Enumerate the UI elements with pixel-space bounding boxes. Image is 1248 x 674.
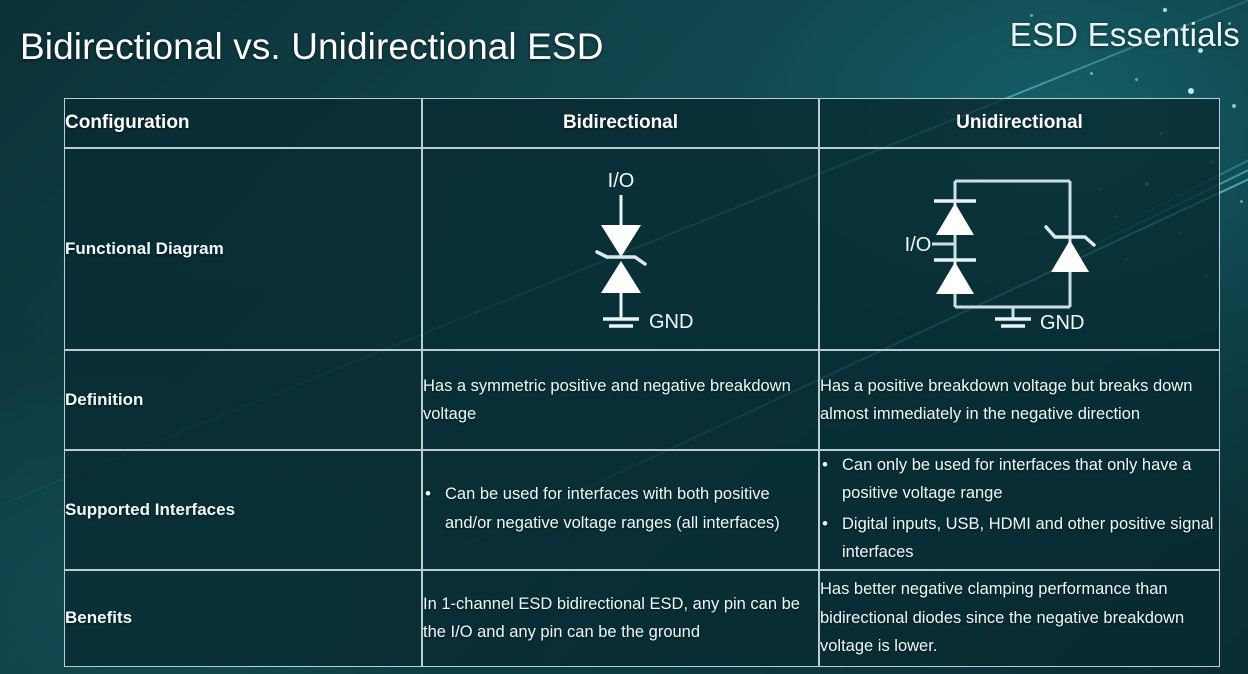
bidirectional-tvs-diode-symbol: I/O GND (521, 159, 721, 339)
definition-bidirectional-text: Has a symmetric positive and negative br… (422, 350, 819, 450)
gnd-label-bidirectional: GND (649, 311, 693, 333)
unidirectional-esd-diode-network-symbol: I/O (880, 159, 1160, 339)
supported-interfaces-unidirectional-cell: Can only be used for interfaces that onl… (819, 450, 1220, 570)
row-header-benefits: Benefits (64, 570, 422, 667)
row-header-definition: Definition (64, 350, 422, 450)
benefits-unidirectional-text: Has better negative clamping performance… (819, 570, 1220, 667)
unidirectional-diagram-cell: I/O (819, 148, 1220, 350)
gnd-label-unidirectional: GND (1040, 312, 1084, 334)
io-label-bidirectional: I/O (607, 170, 634, 192)
star-particle-icon (1090, 72, 1093, 75)
table-row: Supported Interfaces Can be used for int… (64, 450, 1220, 570)
comparison-table: Configuration Bidirectional Unidirection… (64, 98, 1220, 667)
page-title: Bidirectional vs. Unidirectional ESD (20, 26, 604, 68)
slide-canvas: Bidirectional vs. Unidirectional ESD ESD… (0, 0, 1248, 674)
star-particle-icon (1188, 88, 1194, 94)
star-particle-icon (1135, 78, 1138, 81)
bullet-list: Can only be used for interfaces that onl… (820, 451, 1219, 567)
table-row: Functional Diagram I/O (64, 148, 1220, 350)
star-particle-icon (1240, 200, 1243, 203)
bidirectional-diagram-cell: I/O GND (422, 148, 819, 350)
column-header-unidirectional: Unidirectional (819, 98, 1220, 148)
column-header-bidirectional: Bidirectional (422, 98, 819, 148)
io-label-unidirectional: I/O (904, 234, 931, 256)
row-header-supported-interfaces: Supported Interfaces (64, 450, 422, 570)
list-item: Digital inputs, USB, HDMI and other posi… (820, 510, 1219, 567)
list-item: Can only be used for interfaces that onl… (820, 451, 1219, 508)
star-particle-icon (1232, 104, 1236, 108)
benefits-bidirectional-text: In 1-channel ESD bidirectional ESD, any … (422, 570, 819, 667)
star-particle-icon (1163, 8, 1167, 12)
brand-label: ESD Essentials (1010, 16, 1240, 54)
column-header-configuration: Configuration (64, 98, 422, 148)
row-header-functional-diagram: Functional Diagram (64, 148, 422, 350)
list-item: Can be used for interfaces with both pos… (423, 480, 818, 537)
supported-interfaces-bidirectional-cell: Can be used for interfaces with both pos… (422, 450, 819, 570)
table-body: Functional Diagram I/O (64, 148, 1220, 667)
bullet-list: Can be used for interfaces with both pos… (423, 480, 818, 537)
table-row: Benefits In 1-channel ESD bidirectional … (64, 570, 1220, 667)
table-header: Configuration Bidirectional Unidirection… (64, 98, 1220, 148)
definition-unidirectional-text: Has a positive breakdown voltage but bre… (819, 350, 1220, 450)
table-header-row: Configuration Bidirectional Unidirection… (64, 98, 1220, 148)
table-row: Definition Has a symmetric positive and … (64, 350, 1220, 450)
